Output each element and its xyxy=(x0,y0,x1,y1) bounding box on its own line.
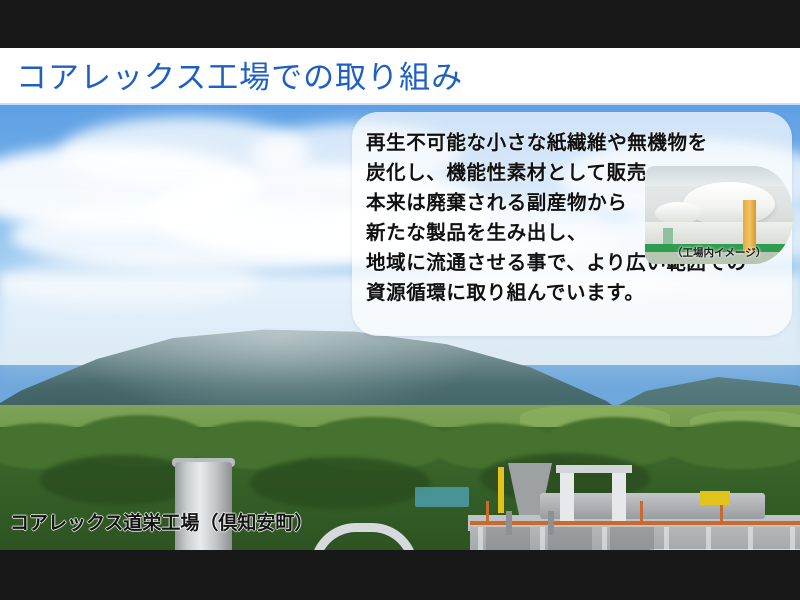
description-line: 再生不可能な小さな紙繊維や無機物を xyxy=(366,128,786,158)
description-line: 資源循環に取り組んでいます。 xyxy=(366,278,786,308)
rail-post xyxy=(486,501,489,525)
silo-leg xyxy=(506,511,512,535)
overhead-pipe-arch xyxy=(310,523,418,550)
tank-rib xyxy=(664,527,669,550)
tank-rib xyxy=(748,527,753,550)
yellow-equipment xyxy=(700,491,730,505)
inset-caption: （工場内イメージ） xyxy=(672,246,766,260)
tank-panel xyxy=(548,527,592,550)
yellow-pipe xyxy=(498,467,504,513)
blue-roof-shed xyxy=(415,487,469,507)
storage-tank-light-section xyxy=(650,549,800,550)
control-panel xyxy=(663,228,673,244)
photo-caption: コアレックス道栄工場（倶知安町） xyxy=(10,510,313,536)
support-column xyxy=(560,471,574,521)
tank-rib xyxy=(602,527,607,550)
letterbox-bar-bottom xyxy=(0,550,800,600)
page-title: コアレックス工場での取り組み xyxy=(16,58,716,98)
factory-complex xyxy=(0,465,800,550)
tank-rib xyxy=(540,527,545,550)
support-column xyxy=(612,471,626,521)
silo-leg xyxy=(548,511,554,535)
tank-rib xyxy=(706,527,711,550)
tank-panel xyxy=(610,527,654,550)
deck-handrail xyxy=(470,521,800,525)
letterbox-bar-top xyxy=(0,0,800,48)
slide-root: コアレックス工場での取り組み xyxy=(0,0,800,600)
roof-girder xyxy=(556,465,632,473)
paper-roll-secondary xyxy=(655,202,701,224)
tank-rib xyxy=(478,527,483,550)
tank-rib xyxy=(790,527,795,550)
paper-roll xyxy=(683,182,775,226)
rail-post xyxy=(640,501,643,525)
factory-chimney xyxy=(175,462,232,550)
